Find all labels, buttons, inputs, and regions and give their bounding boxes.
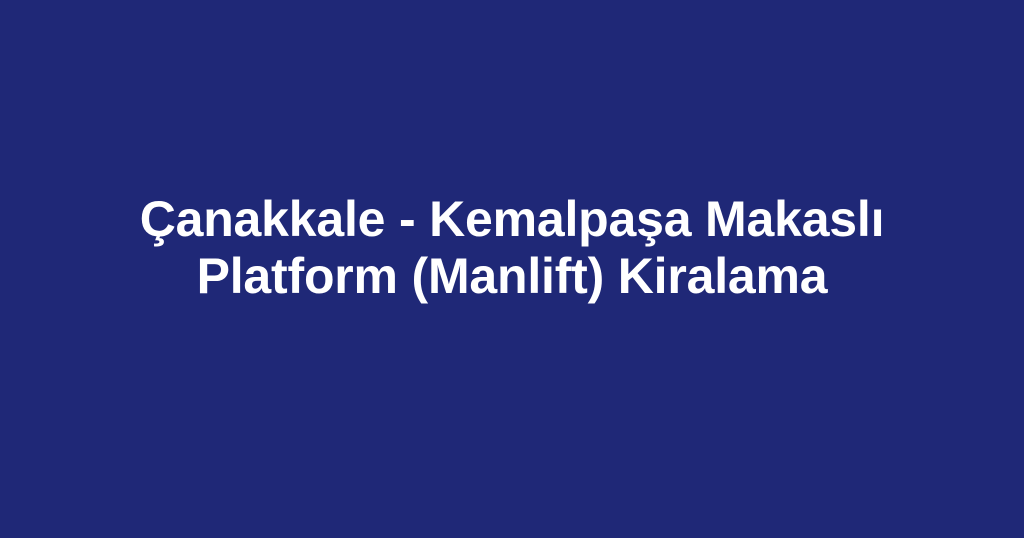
- page-title-line-2: Platform (Manlift) Kiralama: [40, 248, 984, 305]
- page-title-line-1: Çanakkale - Kemalpaşa Makaslı: [40, 191, 984, 248]
- banner-card: Çanakkale - Kemalpaşa Makaslı Platform (…: [0, 0, 1024, 538]
- page-title: Çanakkale - Kemalpaşa Makaslı Platform (…: [40, 191, 984, 305]
- headline-container: Çanakkale - Kemalpaşa Makaslı Platform (…: [0, 191, 1024, 305]
